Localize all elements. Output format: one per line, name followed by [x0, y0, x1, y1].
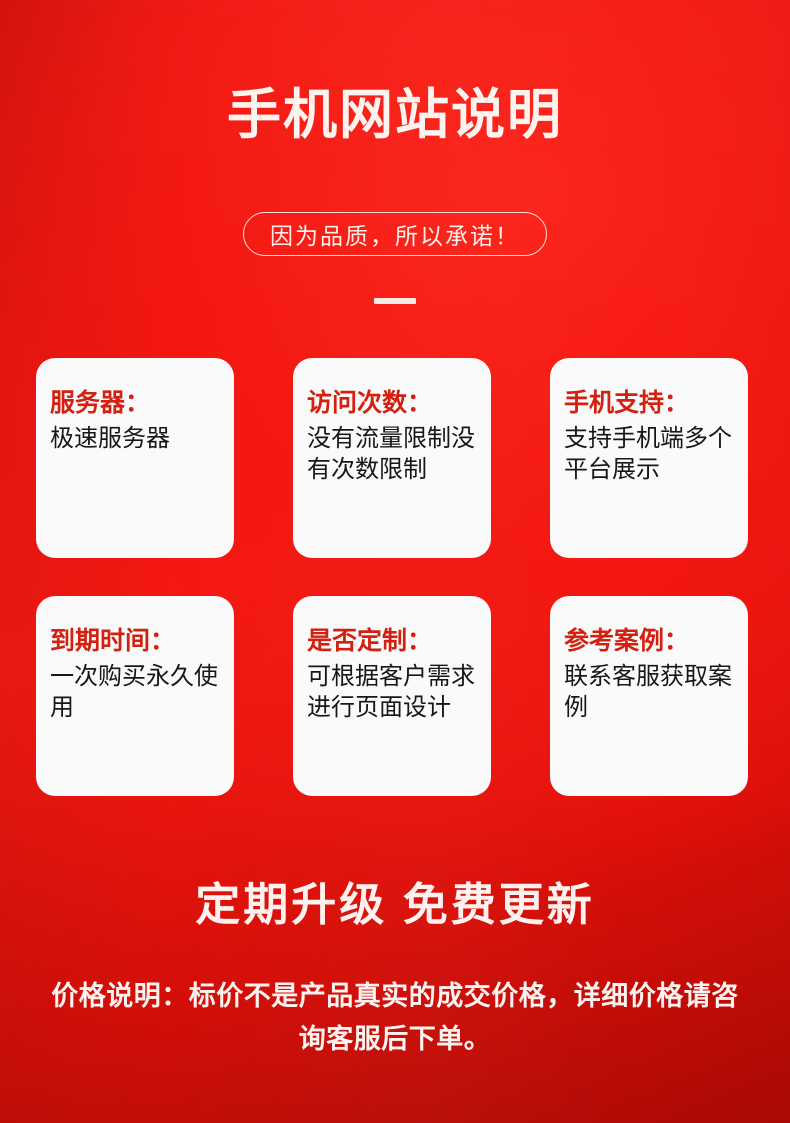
feature-card-heading: 是否定制：	[307, 626, 479, 657]
feature-card-grid: 服务器： 极速服务器 访问次数： 没有流量限制没有次数限制 手机支持： 支持手机…	[36, 358, 748, 796]
feature-card-heading: 参考案例：	[564, 626, 736, 657]
feature-card-customization: 是否定制： 可根据客户需求进行页面设计	[293, 596, 491, 796]
subtitle-badge: 因为品质，所以承诺！	[243, 212, 547, 256]
feature-card-body: 可根据客户需求进行页面设计	[307, 661, 479, 725]
feature-card-heading: 访问次数：	[307, 388, 479, 419]
section-divider	[374, 298, 416, 304]
feature-card-body: 没有流量限制没有次数限制	[307, 423, 479, 487]
feature-card-server: 服务器： 极速服务器	[36, 358, 234, 558]
subtitle-badge-label: 因为品质，所以承诺！	[270, 217, 520, 251]
feature-card-expiry: 到期时间： 一次购买永久使用	[36, 596, 234, 796]
feature-card-mobile-support: 手机支持： 支持手机端多个平台展示	[550, 358, 748, 558]
feature-card-body: 联系客服获取案例	[564, 661, 736, 725]
feature-card-body: 极速服务器	[50, 423, 222, 455]
feature-card-body: 支持手机端多个平台展示	[564, 423, 736, 487]
tagline: 定期升级 免费更新	[0, 868, 790, 933]
feature-card-heading: 服务器：	[50, 388, 222, 419]
page-title: 手机网站说明	[0, 84, 790, 146]
feature-card-visits: 访问次数： 没有流量限制没有次数限制	[293, 358, 491, 558]
feature-card-heading: 手机支持：	[564, 388, 736, 419]
feature-card-heading: 到期时间：	[50, 626, 222, 657]
feature-card-body: 一次购买永久使用	[50, 661, 222, 725]
promo-poster: 手机网站说明 因为品质，所以承诺！ 服务器： 极速服务器 访问次数： 没有流量限…	[0, 0, 790, 1123]
price-disclaimer: 价格说明：标价不是产品真实的成交价格，详细价格请咨询客服后下单。	[38, 975, 752, 1060]
feature-card-case-studies: 参考案例： 联系客服获取案例	[550, 596, 748, 796]
